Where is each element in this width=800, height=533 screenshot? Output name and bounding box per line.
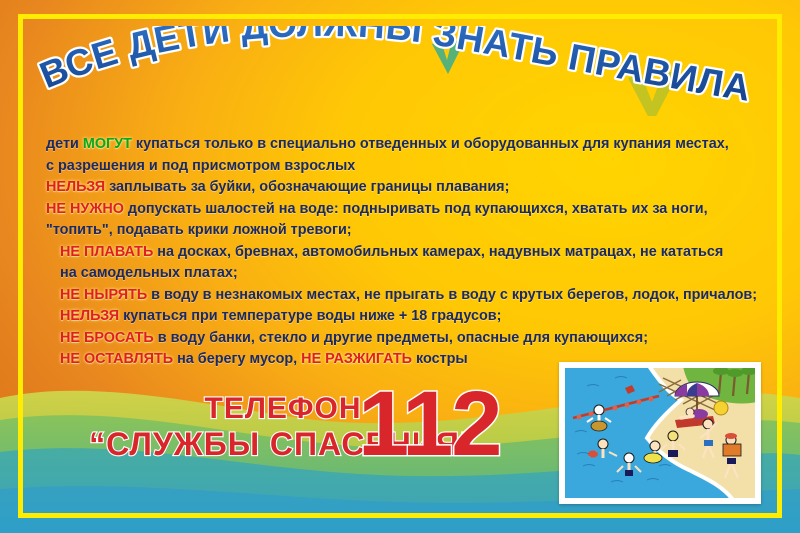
rule-keyword: НЕ НЫРЯТЬ — [60, 287, 147, 303]
beach-illustration — [559, 362, 761, 504]
rule-line: НЕЛЬЗЯ купаться при температуре воды ниж… — [46, 306, 762, 328]
rule-keyword: МОГУТ — [83, 136, 132, 152]
rule-text: на самодельных платах; — [60, 265, 238, 281]
rule-line: НЕ БРОСАТЬ в воду банки, стекло и другие… — [46, 328, 762, 350]
rule-text: в воду в незнакомых местах, не прыгать в… — [147, 287, 757, 303]
rule-keyword: НЕЛЬЗЯ — [60, 308, 119, 324]
rule-text: костры — [412, 351, 468, 367]
rule-keyword: НЕ РАЗЖИГАТЬ — [301, 351, 412, 367]
rule-text: заплывать за буйки, обозначающие границы… — [105, 179, 509, 195]
poster-root: ВСЕ ДЕТИ ДОЛЖНЫ ЗНАТЬ ПРАВИЛА ПОВЕДЕНИЯ … — [0, 0, 800, 533]
rule-text: купаться только в специально отведенных … — [132, 136, 729, 152]
rule-line: НЕ НЫРЯТЬ в воду в незнакомых местах, не… — [46, 285, 762, 307]
rule-keyword: НЕ НУЖНО — [46, 201, 124, 217]
rule-line: НЕ ПЛАВАТЬ на досках, бревнах, автомобил… — [46, 242, 762, 264]
rule-text: с разрешения и под присмотром взрослых — [46, 158, 355, 174]
rule-text: дети — [46, 136, 83, 152]
rule-keyword: НЕЛЬЗЯ — [46, 179, 105, 195]
rule-text: "топить", подавать крики ложной тревоги; — [46, 222, 352, 238]
rules-text-block: дети МОГУТ купаться только в специально … — [46, 134, 762, 371]
rule-text: в воду банки, стекло и другие предметы, … — [154, 330, 648, 346]
rule-line: на самодельных платах; — [46, 263, 762, 285]
rule-line: НЕ НУЖНО допускать шалостей на воде: под… — [46, 199, 762, 221]
rule-line: "топить", подавать крики ложной тревоги; — [46, 220, 762, 242]
rule-line: дети МОГУТ купаться только в специально … — [46, 134, 762, 156]
rule-keyword: НЕ ПЛАВАТЬ — [60, 244, 153, 260]
rule-line: НЕЛЬЗЯ заплывать за буйки, обозначающие … — [46, 177, 762, 199]
rule-text: на досках, бревнах, автомобильных камера… — [153, 244, 723, 260]
poster-title: ВСЕ ДЕТИ ДОЛЖНЫ ЗНАТЬ ПРАВИЛА ПОВЕДЕНИЯ … — [0, 26, 800, 116]
rule-line: с разрешения и под присмотром взрослых — [46, 156, 762, 178]
rule-text: допускать шалостей на воде: подныривать … — [124, 201, 708, 217]
rule-keyword: НЕ ОСТАВЛЯТЬ — [60, 351, 173, 367]
rule-text: купаться при температуре воды ниже + 18 … — [119, 308, 501, 324]
rule-keyword: НЕ БРОСАТЬ — [60, 330, 154, 346]
emergency-phone-number: 112 — [358, 378, 500, 470]
rule-text: на берегу мусор, — [173, 351, 301, 367]
